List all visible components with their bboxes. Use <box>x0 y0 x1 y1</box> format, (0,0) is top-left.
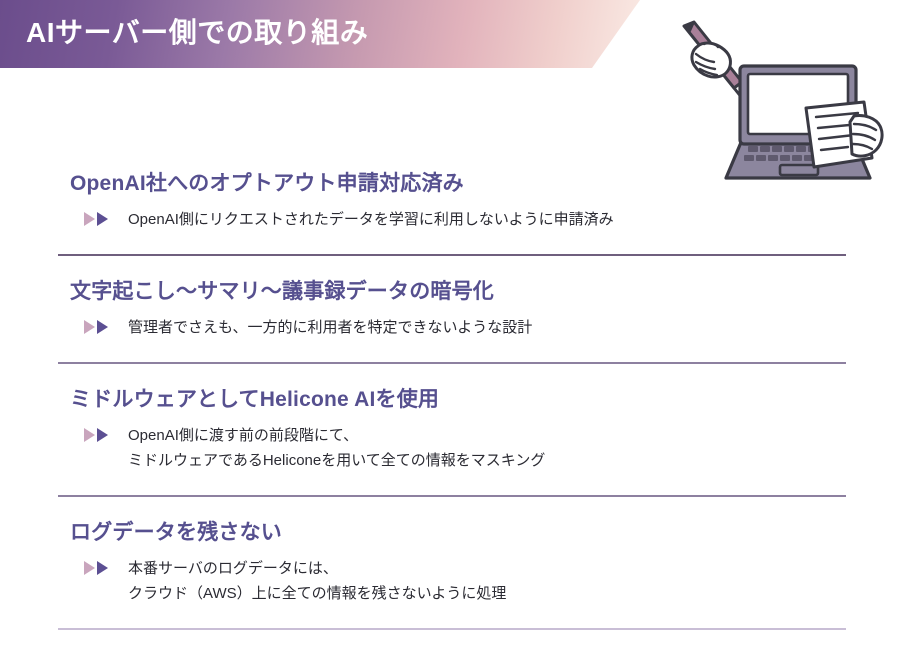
triangle-dark-icon <box>97 561 108 575</box>
triangle-light-icon <box>84 320 95 334</box>
section-4-body: 本番サーバのログデータには、 クラウド（AWS）上に全ての情報を残さないように処… <box>128 556 904 606</box>
section-2-body: 管理者でさえも、一方的に利用者を特定できないような設計 <box>128 315 904 340</box>
sections-list: OpenAI社へのオプトアウト申請対応済み OpenAI側にリクエストされたデー… <box>0 170 904 630</box>
double-triangle-bullet-icon <box>84 315 128 334</box>
section-3-body: OpenAI側に渡す前の前段階にて、 ミドルウェアであるHeliconeを用いて… <box>128 423 904 473</box>
section-4-bullet: 本番サーバのログデータには、 クラウド（AWS）上に全ての情報を残さないように処… <box>84 556 904 606</box>
section-3-heading: ミドルウェアとしてHelicone AIを使用 <box>70 386 904 414</box>
double-triangle-bullet-icon <box>84 556 128 575</box>
section-1-body: OpenAI側にリクエストされたデータを学習に利用しないように申請済み <box>128 207 904 232</box>
section-2: 文字起こし〜サマリ〜議事録データの暗号化 管理者でさえも、一方的に利用者を特定で… <box>0 278 904 340</box>
triangle-light-icon <box>84 212 95 226</box>
triangle-light-icon <box>84 428 95 442</box>
triangle-dark-icon <box>97 428 108 442</box>
section-1: OpenAI社へのオプトアウト申請対応済み OpenAI側にリクエストされたデー… <box>0 170 904 232</box>
divider-4 <box>58 628 846 630</box>
section-4: ログデータを残さない 本番サーバのログデータには、 クラウド（AWS）上に全ての… <box>0 519 904 606</box>
double-triangle-bullet-icon <box>84 423 128 442</box>
double-triangle-bullet-icon <box>84 207 128 226</box>
section-2-bullet: 管理者でさえも、一方的に利用者を特定できないような設計 <box>84 315 904 340</box>
section-3-bullet: OpenAI側に渡す前の前段階にて、 ミドルウェアであるHeliconeを用いて… <box>84 423 904 473</box>
triangle-light-icon <box>84 561 95 575</box>
section-2-heading: 文字起こし〜サマリ〜議事録データの暗号化 <box>70 278 904 306</box>
section-4-heading: ログデータを残さない <box>70 519 904 547</box>
triangle-dark-icon <box>97 212 108 226</box>
section-1-heading: OpenAI社へのオプトアウト申請対応済み <box>70 170 904 198</box>
section-1-bullet: OpenAI側にリクエストされたデータを学習に利用しないように申請済み <box>84 207 904 232</box>
triangle-dark-icon <box>97 320 108 334</box>
hand-document-icon <box>850 115 882 156</box>
section-3: ミドルウェアとしてHelicone AIを使用 OpenAI側に渡す前の前段階に… <box>0 386 904 473</box>
hand-pencil-icon <box>692 43 731 77</box>
page-title: AIサーバー側での取り組み <box>26 14 368 52</box>
